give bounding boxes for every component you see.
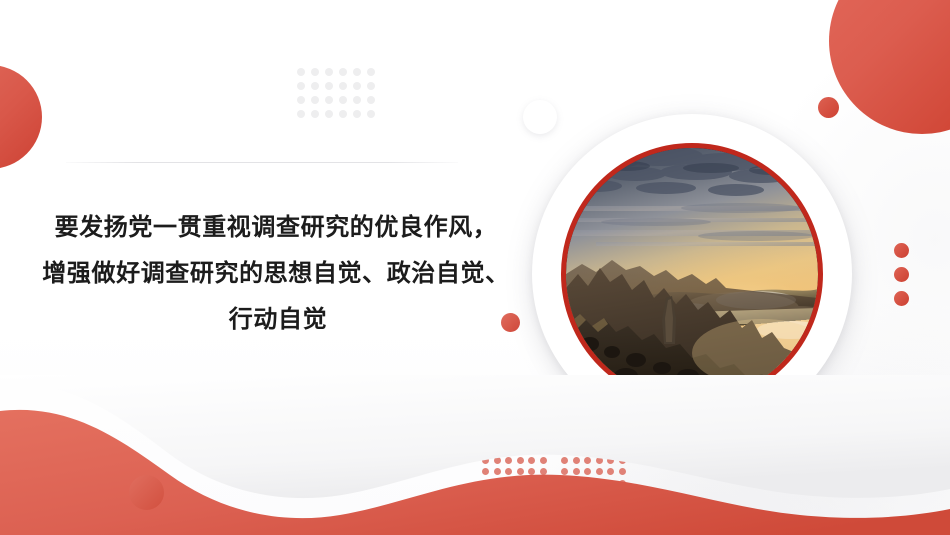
decorative-dot	[894, 267, 909, 282]
divider-line-gray	[66, 162, 458, 163]
headline-line-1: 要发扬党一贯重视调查研究的优良作风，	[18, 205, 538, 251]
decorative-dot-top-right	[818, 97, 839, 118]
headline-line-2: 增强做好调查研究的思想自觉、政治自觉、	[18, 251, 538, 297]
decorative-circle-on-wave	[129, 475, 164, 510]
decorative-wave-bottom	[0, 375, 950, 535]
decorative-dot-beside-photo	[501, 313, 520, 332]
headline-line-3: 行动自觉	[18, 297, 538, 343]
decorative-dot-grid-gray	[297, 68, 381, 124]
photo-ring-border	[561, 143, 823, 405]
presentation-slide: 要发扬党一贯重视调查研究的优良作风， 增强做好调查研究的思想自觉、政治自觉、 行…	[0, 0, 950, 535]
page-title: 要发扬党一贯重视调查研究的优良作风， 增强做好调查研究的思想自觉、政治自觉、 行…	[18, 205, 538, 343]
mountain-sunset-photo	[566, 148, 818, 400]
decorative-circle-white-upper	[523, 100, 557, 134]
decorative-dot	[894, 243, 909, 258]
decorative-dot	[894, 291, 909, 306]
decorative-dots-right-column	[894, 243, 909, 306]
